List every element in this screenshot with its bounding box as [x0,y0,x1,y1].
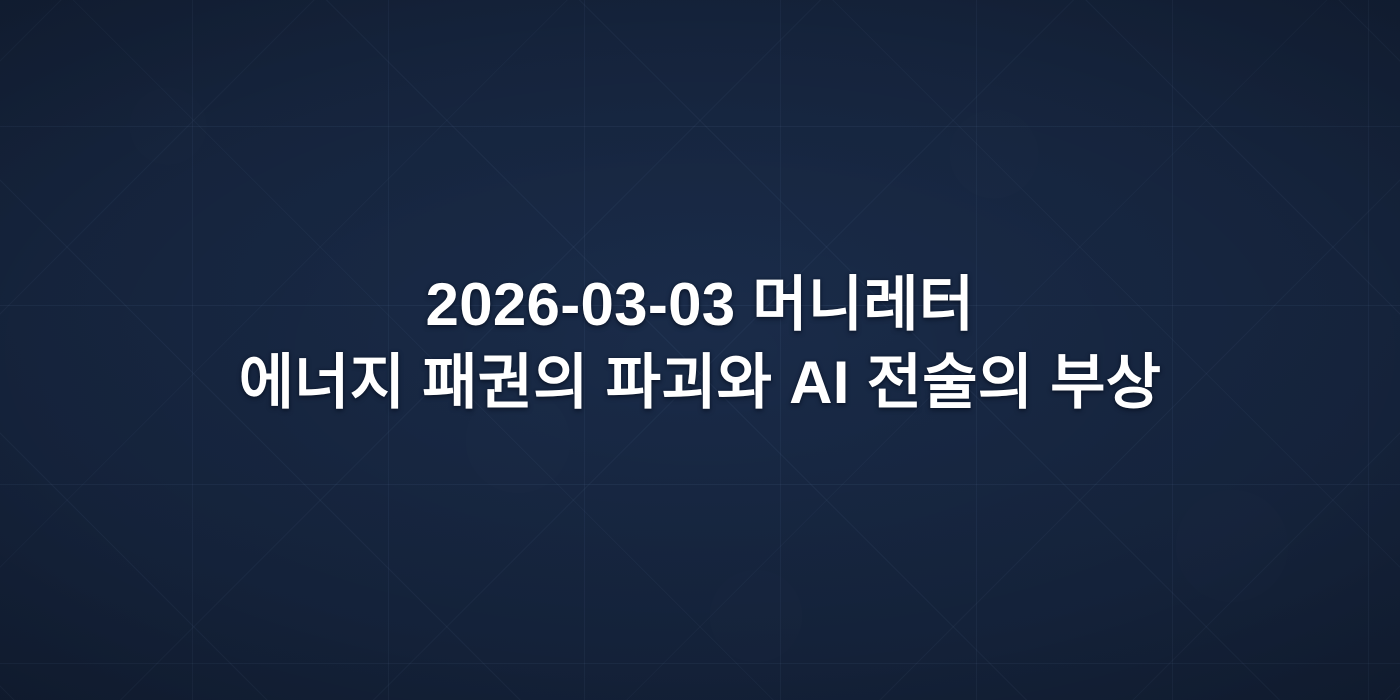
newsletter-cover-card: 2026-03-03 머니레터 에너지 패권의 파괴와 AI 전술의 부상 [0,0,1400,700]
cover-title-line-2: 에너지 패권의 파괴와 AI 전술의 부상 [40,344,1360,422]
cover-title-block: 2026-03-03 머니레터 에너지 패권의 파괴와 AI 전술의 부상 [0,266,1400,422]
cover-title-line-1: 2026-03-03 머니레터 [40,266,1360,344]
